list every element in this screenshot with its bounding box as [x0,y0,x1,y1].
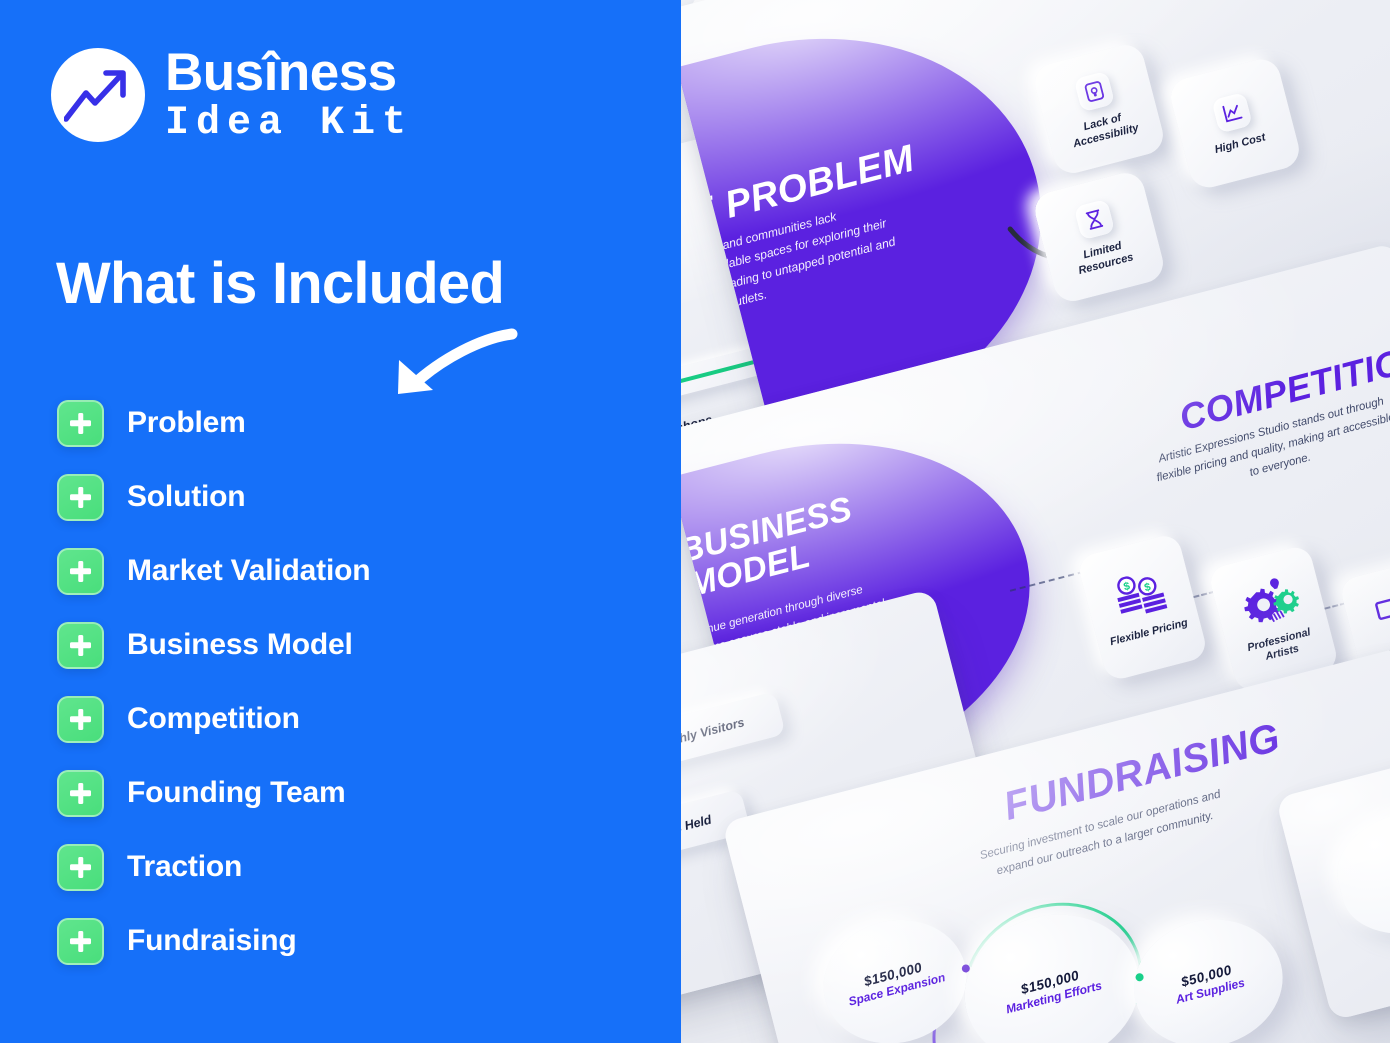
brand-name-secondary: Idea Kit [165,104,413,144]
problem-card[interactable]: Limited Resources [1031,169,1167,305]
info-panel: Busîness Idea Kit What is Included Probl… [0,0,681,1043]
feature-label: Traction [127,850,242,884]
fundraising-circle[interactable]: $150,000 Marketing Efforts [948,896,1155,1043]
feature-item-fundraising[interactable]: Fundraising [57,904,370,978]
problem-card-label: High Cost [1194,126,1287,162]
problem-card-label: Limited Resources [1056,233,1152,283]
chart-line-icon [1211,92,1252,133]
plus-icon [57,622,104,669]
decorative-oval [1326,795,1390,949]
competition-card[interactable]: $ $ Flexible Pricing [1076,532,1209,682]
feature-label: Solution [127,480,245,514]
problem-card-label: Lack of Accessibility [1056,105,1152,155]
plus-icon [57,844,104,891]
money-stacks-coins-icon: $ $ [1107,568,1172,625]
feature-label: Business Model [127,628,353,662]
feature-item-founding-team[interactable]: Founding Team [57,756,370,830]
page-title: What is Included [56,250,504,317]
plus-icon [57,548,104,595]
feature-item-competition[interactable]: Competition [57,682,370,756]
document-lock-icon [1074,71,1115,112]
feature-label: Founding Team [127,776,346,810]
curved-arrow-down-left-icon [386,324,518,406]
feature-label: Market Validation [127,554,370,588]
feature-item-solution[interactable]: Solution [57,460,370,534]
feature-list: Problem Solution Market Validation Busin… [57,386,370,978]
feature-item-market-validation[interactable]: Market Validation [57,534,370,608]
fundraising-circle[interactable]: $50,000 Art Supplies [1120,903,1297,1043]
brand-logo: Busîness Idea Kit [51,46,413,144]
feature-item-business-model[interactable]: Business Model [57,608,370,682]
plus-icon [57,770,104,817]
feature-label: Fundraising [127,924,296,958]
feature-item-problem[interactable]: Problem [57,386,370,460]
problem-card[interactable]: Lack of Accessibility [1031,41,1167,177]
gears-paintbrush-icon [1234,570,1304,631]
feature-item-traction[interactable]: Traction [57,830,370,904]
interior-icon [1370,586,1390,639]
feature-label: Problem [127,406,246,440]
plus-icon [57,400,104,447]
plus-icon [57,918,104,965]
hourglass-icon [1074,199,1115,240]
brand-name-primary: Busîness [165,46,413,99]
plus-icon [57,474,104,521]
problem-card[interactable]: High Cost [1167,55,1303,191]
feature-label: Competition [127,702,300,736]
poster-canvas: Drop-in Fees Education Workshops THE PRO… [0,0,1390,1043]
plus-icon [57,696,104,743]
growth-chart-arrow-icon [51,48,145,142]
